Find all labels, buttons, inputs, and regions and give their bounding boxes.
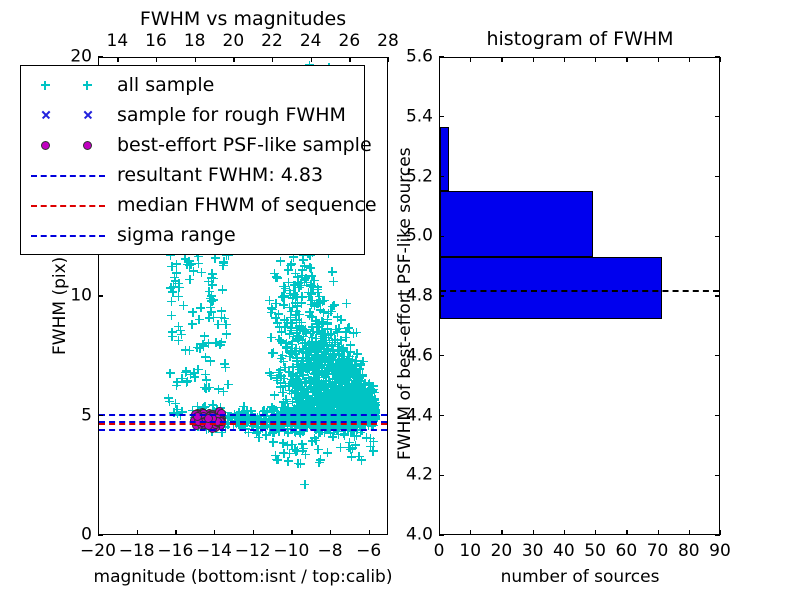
scatter-point-all-sample <box>336 443 345 452</box>
scatter-point-all-sample <box>267 333 276 342</box>
scatter-point-all-sample <box>330 375 339 384</box>
tick-mark <box>98 56 103 57</box>
legend-marker-glyph <box>41 111 50 120</box>
scatter-point-all-sample <box>295 323 304 332</box>
scatter-point-all-sample <box>369 447 378 456</box>
scatter-point-all-sample <box>276 366 285 375</box>
tick-label: −14 <box>196 543 232 560</box>
tick-label: −18 <box>119 543 155 560</box>
histogram-bar <box>440 127 449 191</box>
scatter-point-all-sample <box>332 325 341 334</box>
histogram-axes <box>439 57 720 535</box>
scatter-point-all-sample <box>179 301 188 310</box>
right-panel-xlabel: number of sources <box>501 567 660 587</box>
tick-label: 5 <box>54 407 92 424</box>
tick-mark <box>470 57 471 62</box>
tick-mark <box>501 530 502 535</box>
scatter-point-all-sample <box>218 285 227 294</box>
tick-mark <box>715 475 720 476</box>
scatter-point-all-sample <box>183 260 192 269</box>
tick-label: 5.2 <box>389 168 433 185</box>
legend-marker <box>25 131 111 159</box>
scatter-point-all-sample <box>292 388 301 397</box>
tick-mark <box>715 534 720 535</box>
tick-mark <box>715 116 720 117</box>
scatter-point-all-sample <box>306 280 315 289</box>
tick-label: 10 <box>459 543 481 560</box>
tick-mark <box>715 236 720 237</box>
scatter-point-all-sample <box>185 346 194 355</box>
tick-label: 60 <box>616 543 638 560</box>
scatter-point-all-sample <box>315 458 324 467</box>
tick-label: 70 <box>647 543 669 560</box>
legend-line-glyph <box>31 235 105 237</box>
legend-label: best-effort PSF-like sample <box>117 134 372 156</box>
scatter-point-all-sample <box>300 379 309 388</box>
tick-mark <box>272 57 273 62</box>
tick-label: 80 <box>678 543 700 560</box>
tick-label: −16 <box>157 543 193 560</box>
tick-mark <box>330 530 331 535</box>
scatter-point-all-sample <box>329 277 338 286</box>
tick-label: 50 <box>584 543 606 560</box>
tick-mark <box>291 530 292 535</box>
tick-label: −20 <box>80 543 116 560</box>
tick-label: 5.4 <box>389 108 433 125</box>
scatter-point-all-sample <box>340 389 349 398</box>
legend-line-glyph <box>31 175 105 177</box>
tick-mark <box>564 530 565 535</box>
scatter-point-all-sample <box>265 368 274 377</box>
histogram-median-line <box>440 290 719 292</box>
tick-mark <box>626 530 627 535</box>
scatter-point-all-sample <box>298 271 307 280</box>
scatter-point-all-sample <box>289 379 298 388</box>
tick-label: 0 <box>54 527 92 544</box>
tick-mark <box>720 530 721 535</box>
legend-label: sample for rough FWHM <box>117 104 346 126</box>
scatter-point-all-sample <box>349 329 358 338</box>
legend-label: resultant FWHM: 4.83 <box>117 164 323 186</box>
legend-marker <box>25 71 111 99</box>
tick-mark <box>533 57 534 62</box>
scatter-point-all-sample <box>294 459 303 468</box>
scatter-point-all-sample <box>335 349 344 358</box>
scatter-point-all-sample <box>315 383 324 392</box>
tick-mark <box>117 57 118 62</box>
scatter-point-all-sample <box>309 342 318 351</box>
tick-mark <box>175 530 176 535</box>
tick-mark <box>137 530 138 535</box>
scatter-point-all-sample <box>196 303 205 312</box>
scatter-point-all-sample <box>200 332 209 341</box>
tick-mark <box>439 57 440 62</box>
histogram-data-area <box>440 58 719 534</box>
legend-entry: sigma range <box>21 221 364 249</box>
scatter-point-all-sample <box>320 345 329 354</box>
scatter-point-all-sample <box>170 273 179 282</box>
scatter-point-all-sample <box>272 273 281 282</box>
scatter-point-all-sample <box>206 294 215 303</box>
scatter-point-all-sample <box>276 257 285 266</box>
tick-mark <box>658 530 659 535</box>
legend-label: all sample <box>117 74 214 96</box>
scatter-point-all-sample <box>269 438 278 447</box>
scatter-point-all-sample <box>298 446 307 455</box>
legend-marker <box>25 221 111 249</box>
scatter-point-all-sample <box>164 394 173 403</box>
sigma-range-lower-line <box>99 429 387 431</box>
tick-label: 24 <box>300 33 322 50</box>
scatter-point-all-sample <box>220 314 229 323</box>
tick-mark <box>439 116 444 117</box>
legend-entry: best-effort PSF-like sample <box>21 131 364 159</box>
scatter-point-all-sample <box>188 320 197 329</box>
tick-mark <box>564 57 565 62</box>
tick-label: 5.0 <box>389 228 433 245</box>
left-panel-title: FWHM vs magnitudes <box>140 8 346 30</box>
scatter-point-all-sample <box>292 344 301 353</box>
tick-mark <box>595 530 596 535</box>
tick-mark <box>715 355 720 356</box>
tick-mark <box>720 57 721 62</box>
scatter-point-all-sample <box>311 436 320 445</box>
scatter-point-all-sample <box>305 263 314 272</box>
scatter-point-all-sample <box>219 387 228 396</box>
tick-mark <box>533 530 534 535</box>
legend-marker-glyph <box>41 141 50 150</box>
left-panel-xlabel: magnitude (bottom:isnt / top:calib) <box>94 567 393 587</box>
scatter-point-all-sample <box>174 292 183 301</box>
tick-label: 20 <box>54 49 92 66</box>
legend-marker-glyph <box>41 81 50 90</box>
scatter-point-all-sample <box>294 336 303 345</box>
scatter-point-all-sample <box>307 289 316 298</box>
scatter-point-all-sample <box>186 370 195 379</box>
tick-label: −6 <box>356 543 381 560</box>
tick-mark <box>195 57 196 62</box>
tick-mark <box>98 534 103 535</box>
tick-label: −10 <box>273 543 309 560</box>
tick-mark <box>233 57 234 62</box>
legend-label: median FHWM of sequence <box>117 194 377 216</box>
tick-label: 40 <box>553 543 575 560</box>
legend-marker-glyph <box>83 141 92 150</box>
tick-mark <box>439 295 444 296</box>
scatter-point-all-sample <box>333 360 342 369</box>
scatter-point-all-sample <box>197 268 206 277</box>
scatter-point-all-sample <box>300 480 309 489</box>
legend-entry: all sample <box>21 71 364 99</box>
tick-label: 4.2 <box>389 467 433 484</box>
scatter-point-all-sample <box>366 434 375 443</box>
tick-label: 4.6 <box>389 347 433 364</box>
tick-mark <box>439 355 444 356</box>
scatter-point-all-sample <box>173 378 182 387</box>
scatter-point-all-sample <box>360 379 369 388</box>
tick-label: 90 <box>709 543 731 560</box>
tick-mark <box>715 415 720 416</box>
tick-mark <box>311 57 312 62</box>
scatter-point-all-sample <box>270 391 279 400</box>
tick-label: 22 <box>261 33 283 50</box>
scatter-point-all-sample <box>314 445 323 454</box>
tick-mark <box>439 415 444 416</box>
tick-mark <box>98 415 103 416</box>
scatter-point-all-sample <box>284 457 293 466</box>
scatter-point-all-sample <box>323 324 332 333</box>
scatter-point-all-sample <box>221 363 230 372</box>
tick-mark <box>501 57 502 62</box>
tick-label: 20 <box>491 543 513 560</box>
tick-mark <box>369 530 370 535</box>
scatter-point-all-sample <box>289 369 298 378</box>
resultant-fwhm-line <box>99 421 387 423</box>
left-panel-ylabel: FWHM (pix) <box>50 257 70 355</box>
plot-legend: all samplesample for rough FWHMbest-effo… <box>20 65 365 255</box>
figure-canvas: FWHM vs magnitudes magnitude (bottom:isn… <box>0 0 800 600</box>
scatter-point-all-sample <box>168 332 177 341</box>
tick-label: 28 <box>377 33 399 50</box>
scatter-point-all-sample <box>167 311 176 320</box>
scatter-point-all-sample <box>172 260 181 269</box>
tick-mark <box>439 475 444 476</box>
tick-mark <box>253 530 254 535</box>
scatter-point-all-sample <box>185 275 194 284</box>
scatter-point-all-sample <box>267 303 276 312</box>
scatter-point-all-sample <box>201 353 210 362</box>
tick-label: 18 <box>184 33 206 50</box>
scatter-point-all-sample <box>291 281 300 290</box>
scatter-point-all-sample <box>334 430 343 439</box>
scatter-point-all-sample <box>292 356 301 365</box>
legend-entry: resultant FWHM: 4.83 <box>21 161 364 189</box>
tick-mark <box>470 530 471 535</box>
scatter-point-all-sample <box>169 282 178 291</box>
tick-mark <box>349 57 350 62</box>
scatter-point-all-sample <box>313 299 322 308</box>
scatter-point-all-sample <box>317 364 326 373</box>
tick-label: 30 <box>522 543 544 560</box>
tick-mark <box>689 57 690 62</box>
legend-marker-glyph <box>83 111 92 120</box>
right-panel-title: histogram of FWHM <box>486 28 673 50</box>
tick-mark <box>658 57 659 62</box>
tick-label: 10 <box>54 288 92 305</box>
tick-label: −8 <box>317 543 342 560</box>
histogram-bar <box>440 191 593 257</box>
sigma-range-upper-line <box>99 414 387 416</box>
scatter-point-all-sample <box>323 448 332 457</box>
tick-label: 20 <box>223 33 245 50</box>
scatter-point-all-sample <box>342 299 351 308</box>
tick-mark <box>439 534 444 535</box>
scatter-point-all-sample <box>308 323 317 332</box>
tick-mark <box>626 57 627 62</box>
scatter-point-all-sample <box>208 269 217 278</box>
scatter-point-all-sample <box>350 432 359 441</box>
legend-line-glyph <box>31 205 105 207</box>
scatter-point-all-sample <box>293 301 302 310</box>
tick-mark <box>156 57 157 62</box>
scatter-point-all-sample <box>202 384 211 393</box>
tick-mark <box>715 295 720 296</box>
legend-marker-glyph <box>83 81 92 90</box>
tick-mark <box>439 176 444 177</box>
scatter-point-all-sample <box>195 344 204 353</box>
scatter-point-all-sample <box>284 266 293 275</box>
legend-marker <box>25 161 111 189</box>
tick-label: 5.6 <box>389 49 433 66</box>
median-fwhm-line <box>99 423 387 425</box>
scatter-point-all-sample <box>328 267 337 276</box>
scatter-point-all-sample <box>212 338 221 347</box>
scatter-point-all-sample <box>327 307 336 316</box>
scatter-point-all-sample <box>348 380 357 389</box>
tick-mark <box>439 236 444 237</box>
tick-mark <box>214 530 215 535</box>
scatter-point-all-sample <box>174 322 183 331</box>
scatter-point-all-sample <box>307 272 316 281</box>
tick-mark <box>689 530 690 535</box>
tick-label: 4.0 <box>389 527 433 544</box>
legend-label: sigma range <box>117 224 236 246</box>
legend-entry: median FHWM of sequence <box>21 191 364 219</box>
scatter-point-all-sample <box>166 369 175 378</box>
legend-marker <box>25 101 111 129</box>
scatter-point-all-sample <box>272 455 281 464</box>
scatter-point-all-sample <box>355 452 364 461</box>
scatter-point-all-sample <box>315 354 324 363</box>
legend-entry: sample for rough FWHM <box>21 101 364 129</box>
scatter-point-all-sample <box>346 445 355 454</box>
tick-label: 26 <box>339 33 361 50</box>
scatter-point-all-sample <box>271 314 280 323</box>
tick-mark <box>595 57 596 62</box>
tick-label: 4.8 <box>389 288 433 305</box>
histogram-bar <box>440 257 662 320</box>
scatter-point-all-sample <box>331 389 340 398</box>
scatter-point-all-sample <box>268 349 277 358</box>
legend-marker <box>25 191 111 219</box>
tick-label: 0 <box>434 543 445 560</box>
tick-label: 4.4 <box>389 407 433 424</box>
tick-mark <box>715 176 720 177</box>
tick-label: −12 <box>235 543 271 560</box>
tick-label: 14 <box>107 33 129 50</box>
tick-label: 16 <box>145 33 167 50</box>
tick-mark <box>98 295 103 296</box>
